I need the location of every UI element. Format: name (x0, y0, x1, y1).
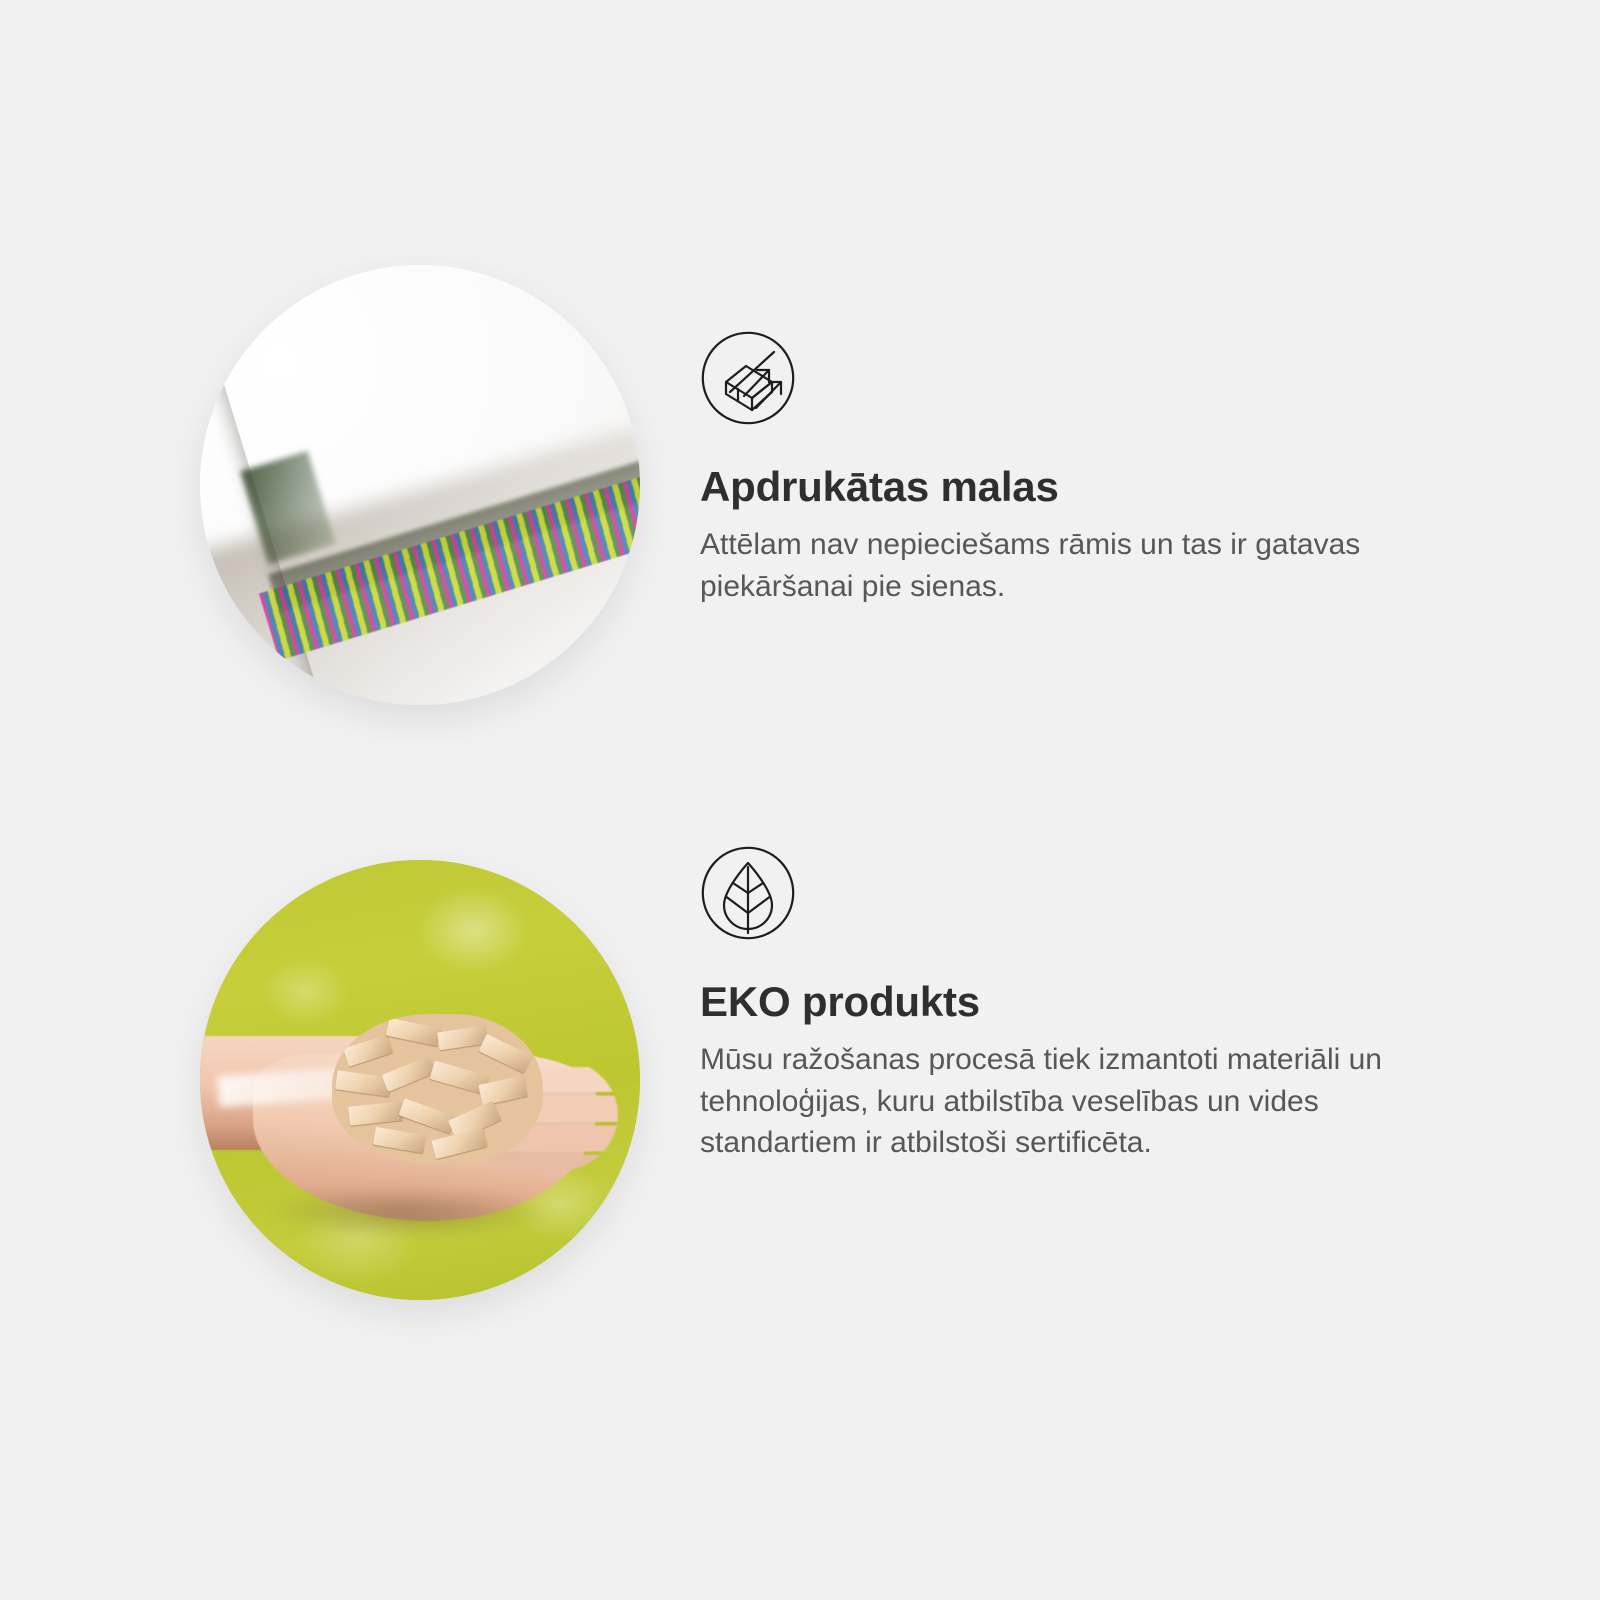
feature-description-eco-product: Mūsu ražošanas procesā tiek izmantoti ma… (700, 1039, 1420, 1163)
leaf-icon (700, 845, 796, 941)
feature-block-eco-product: EKO produkts Mūsu ražošanas procesā tiek… (0, 845, 1600, 1315)
feature-text-eco-product: EKO produkts Mūsu ražošanas procesā tiek… (700, 845, 1600, 1163)
canvas-print-corner-photo (200, 265, 640, 705)
feature-media-printed-edges (0, 250, 700, 720)
feature-description-printed-edges: Attēlam nav nepieciešams rāmis un tas ir… (700, 524, 1420, 607)
feature-highlights-page: Apdrukātas malas Attēlam nav nepieciešam… (0, 0, 1600, 1600)
feature-block-printed-edges: Apdrukātas malas Attēlam nav nepieciešam… (0, 250, 1600, 720)
canvas-wrapped-edge-icon (700, 330, 796, 426)
wood-chips-pile (332, 1014, 543, 1164)
feature-title-printed-edges: Apdrukātas malas (700, 464, 1600, 510)
feature-title-eco-product: EKO produkts (700, 979, 1600, 1025)
feature-text-printed-edges: Apdrukātas malas Attēlam nav nepieciešam… (700, 250, 1600, 607)
hand-contact-shadow (262, 1186, 552, 1239)
feature-media-eco-product (0, 845, 700, 1315)
hands-holding-wood-chips-photo (200, 860, 640, 1300)
